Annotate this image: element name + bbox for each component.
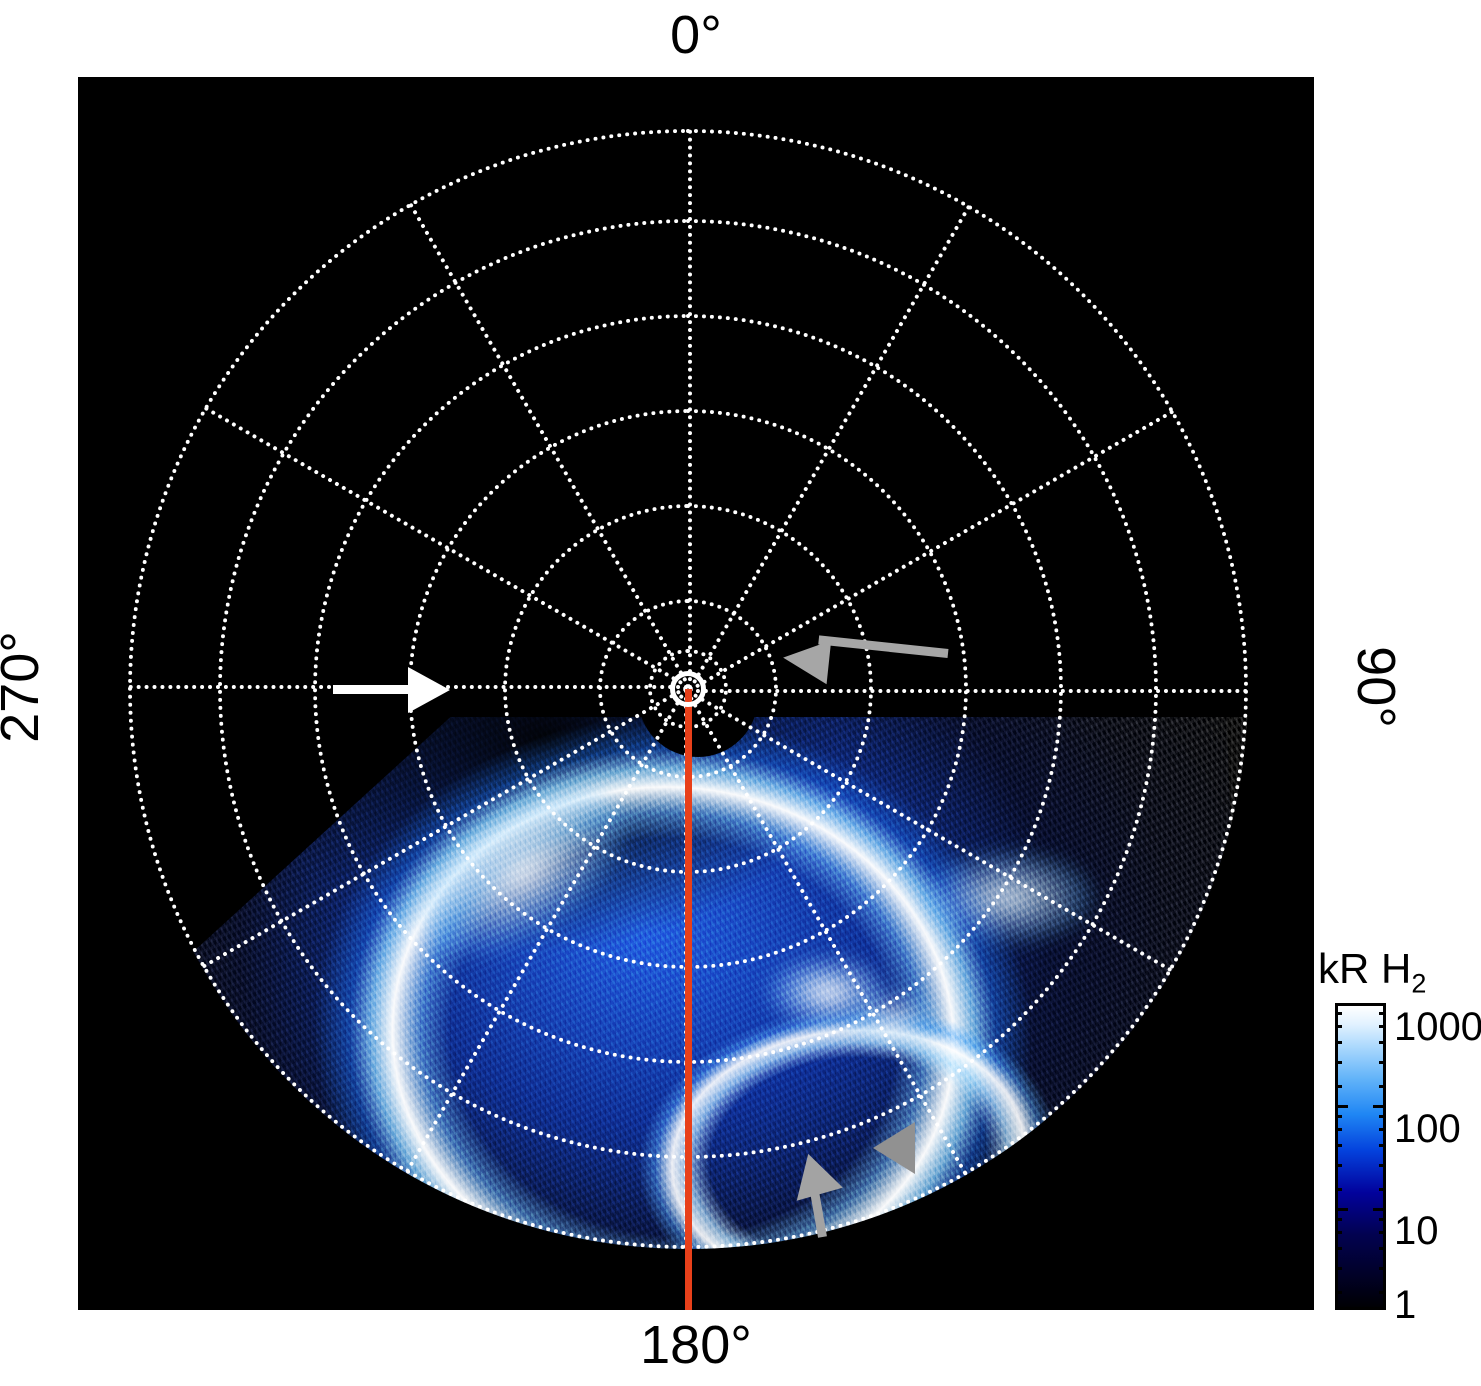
colorbar-tick — [1379, 1012, 1386, 1015]
colorbar-label-100: 100 — [1394, 1109, 1461, 1149]
polar-plot-area — [78, 77, 1314, 1310]
colorbar-tick — [1379, 1231, 1386, 1234]
colorbar-tick — [1335, 1012, 1342, 1015]
colorbar-tick — [1335, 1208, 1348, 1211]
colorbar-tick — [1335, 1218, 1342, 1221]
colorbar-label-10: 10 — [1394, 1211, 1439, 1251]
colorbar-tick — [1379, 1025, 1386, 1028]
colorbar-tick — [1335, 1307, 1348, 1310]
colorbar-tick — [1373, 1307, 1386, 1310]
colorbar-tick — [1335, 1231, 1342, 1234]
figure-canvas: 0° 180° 270° 90° — [0, 0, 1481, 1386]
axis-label-0: 0° — [0, 8, 1392, 62]
axis-label-90: 90° — [1349, 607, 1403, 767]
colorbar-tick — [1379, 1115, 1386, 1118]
colorbar-tick — [1335, 1041, 1342, 1044]
colorbar-tick — [1379, 1041, 1386, 1044]
white-arrow-icon — [408, 667, 450, 713]
colorbar-tick — [1335, 1188, 1342, 1191]
colorbar-tick — [1379, 1144, 1386, 1147]
pole-marker-icon — [670, 671, 706, 707]
colorbar-tick — [1379, 1218, 1386, 1221]
colorbar-tick — [1379, 1188, 1386, 1191]
white-arrow-shaft — [333, 685, 411, 694]
colorbar-tick — [1379, 1164, 1386, 1167]
axis-label-180: 180° — [0, 1318, 1392, 1372]
colorbar-tick — [1373, 1208, 1386, 1211]
colorbar-tick — [1335, 1003, 1348, 1006]
grid-spoke — [688, 129, 692, 689]
colorbar-tick — [1373, 1105, 1386, 1108]
colorbar-label-1000: 1000 — [1394, 1007, 1481, 1047]
colorbar-tick — [1335, 1247, 1342, 1250]
colorbar-tick — [1379, 1128, 1386, 1131]
colorbar-title-main: kR H — [1318, 945, 1411, 992]
colorbar-tick — [1335, 1144, 1342, 1147]
colorbar-ticks — [1335, 1003, 1386, 1310]
colorbar-label-1: 1 — [1394, 1285, 1416, 1325]
colorbar-tick — [1335, 1105, 1348, 1108]
colorbar-tick — [1335, 1115, 1342, 1118]
axis-label-270: 270° — [0, 607, 47, 767]
gray-arrow-upper-icon — [781, 636, 831, 685]
colorbar-tick — [1379, 1061, 1386, 1064]
gray-arrowhead-right-icon — [873, 1122, 915, 1174]
colorbar-title-sub: 2 — [1411, 968, 1426, 998]
colorbar-tick — [1335, 1025, 1342, 1028]
colorbar-tick — [1335, 1061, 1342, 1064]
colorbar-tick — [1379, 1085, 1386, 1088]
colorbar-tick — [1335, 1291, 1342, 1294]
noon-meridian-line — [685, 689, 692, 1310]
colorbar-tick — [1379, 1291, 1386, 1294]
colorbar-tick — [1335, 1164, 1342, 1167]
colorbar-tick — [1379, 1267, 1386, 1270]
colorbar: kR H2 — [1318, 945, 1481, 1325]
colorbar-tick — [1379, 1247, 1386, 1250]
colorbar-tick — [1335, 1128, 1342, 1131]
colorbar-tick — [1335, 1085, 1342, 1088]
colorbar-tick — [1373, 1003, 1386, 1006]
grid-spoke — [688, 689, 1248, 693]
colorbar-title: kR H2 — [1318, 945, 1426, 999]
colorbar-tick — [1335, 1267, 1342, 1270]
